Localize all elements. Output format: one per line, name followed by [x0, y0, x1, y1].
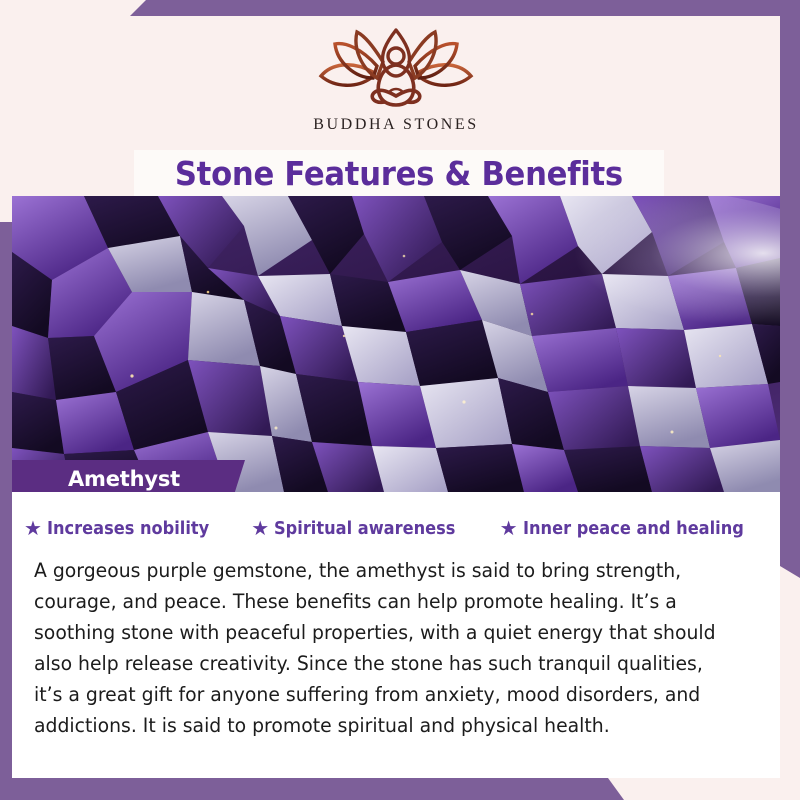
star-icon: ★ — [24, 519, 42, 539]
product-info-card: BUDDHA STONES Stone Features & Benefits — [0, 0, 800, 800]
lotus-meditation-figure-icon — [311, 26, 481, 114]
benefit-label: Increases nobility — [47, 518, 209, 539]
card-body: BUDDHA STONES Stone Features & Benefits — [12, 16, 780, 778]
brand-logo: BUDDHA STONES — [311, 26, 481, 134]
benefit-label: Spiritual awareness — [274, 518, 455, 539]
stone-description: A gorgeous purple gemstone, the amethyst… — [34, 555, 733, 741]
stone-photo — [12, 196, 780, 492]
frame-band-right — [780, 0, 800, 578]
benefit-item: ★ Spiritual awareness — [251, 518, 475, 539]
stone-content: ★ Increases nobility ★ Spiritual awarene… — [12, 492, 780, 778]
frame-band-left — [0, 222, 12, 778]
benefit-item: ★ Inner peace and healing — [500, 518, 768, 539]
star-icon: ★ — [251, 519, 269, 539]
frame-band-top — [0, 0, 800, 16]
benefit-item: ★ Increases nobility — [24, 518, 227, 539]
benefits-list: ★ Increases nobility ★ Spiritual awarene… — [12, 492, 780, 539]
frame-band-bottom — [0, 778, 800, 800]
brand-name: BUDDHA STONES — [313, 116, 479, 134]
page-title-band: Stone Features & Benefits — [134, 150, 664, 196]
benefit-label: Inner peace and healing — [523, 518, 744, 539]
stone-name: Amethyst — [68, 467, 180, 491]
amethyst-crystal-cluster-illustration — [12, 196, 780, 492]
page-title: Stone Features & Benefits — [175, 154, 623, 193]
star-icon: ★ — [500, 519, 518, 539]
